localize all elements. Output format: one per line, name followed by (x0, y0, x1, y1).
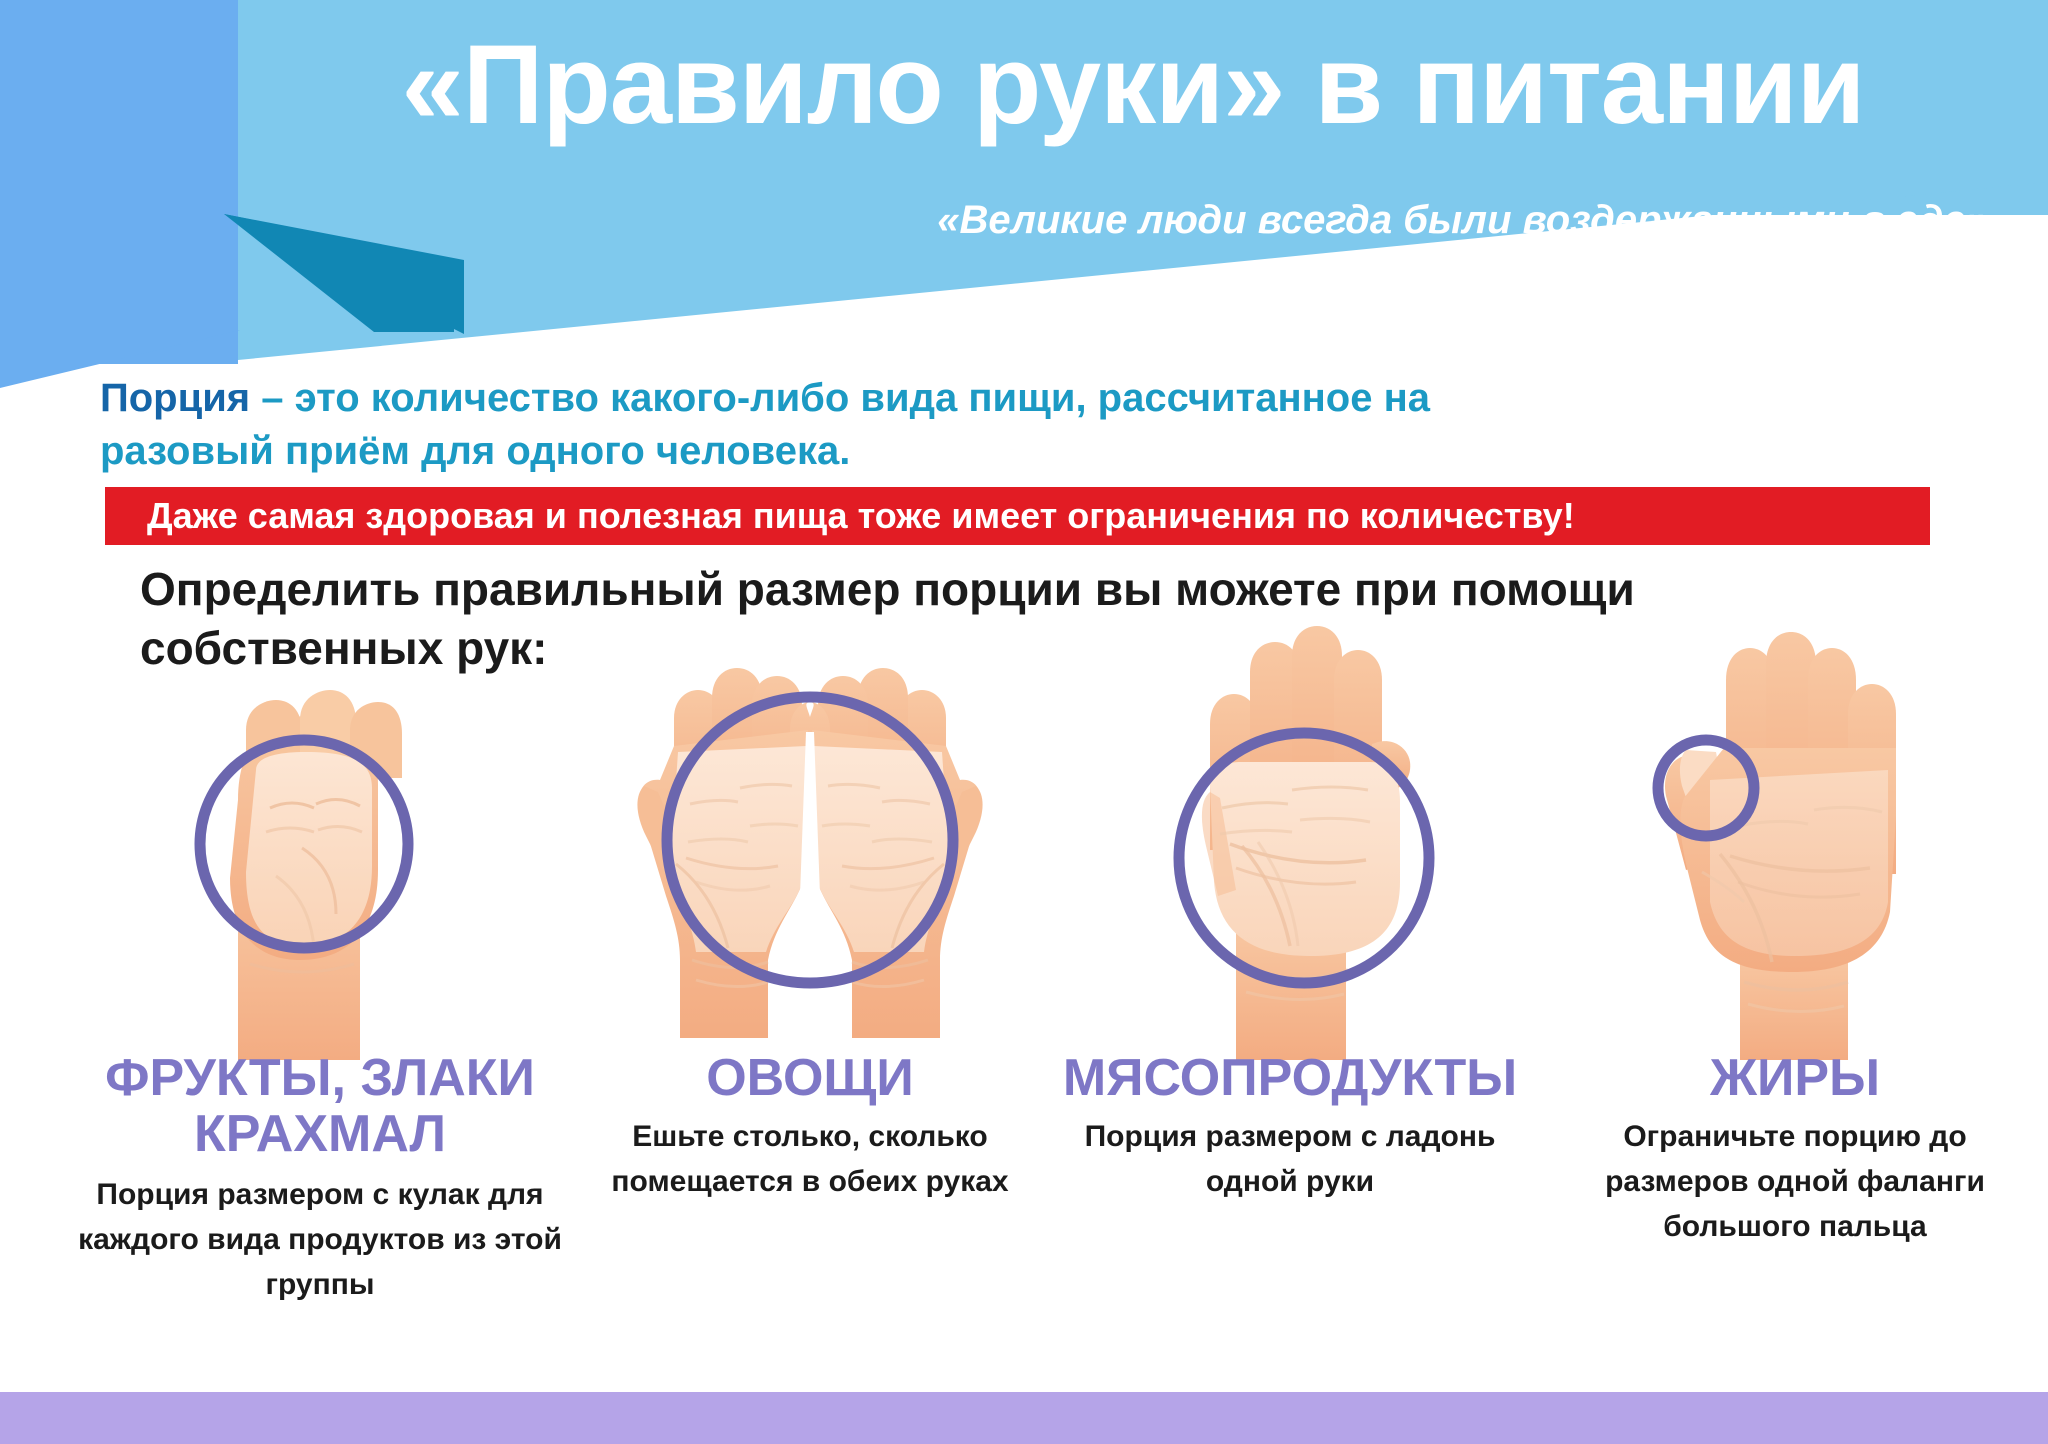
two-cupped-hands-icon (600, 620, 1020, 1060)
column-vegetables: ОВОЩИ Ешьте столько, сколько помещается … (600, 620, 1020, 1060)
category-label-4: ЖИРЫ (1560, 1050, 2030, 1106)
page-title: «Правило руки» в питании (238, 26, 2028, 145)
header-quote: «Великие люди всегда были воздержанными … (937, 198, 1988, 243)
warning-banner-text: Даже самая здоровая и полезная пища тоже… (105, 487, 1930, 545)
category-label-3: МЯСОПРОДУКТЫ (1060, 1050, 1520, 1106)
hand-columns: ФРУКТЫ, ЗЛАКИ КРАХМАЛ Порция размером с … (0, 620, 2048, 1400)
column-meat-products: МЯСОПРОДУКТЫ Порция размером с ладонь од… (1060, 620, 1520, 1060)
open-palm-hand-icon (1060, 620, 1520, 1060)
warning-banner: Даже самая здоровая и полезная пища тоже… (105, 487, 1930, 545)
category-caption-4: Ограничьте порцию до размеров одной фала… (1560, 1114, 2030, 1249)
header-left-panel (0, 0, 238, 364)
bottom-accent-bar (0, 1392, 2048, 1444)
column-fats: ЖИРЫ Ограничьте порцию до размеров одной… (1560, 620, 2030, 1060)
category-caption-3: Порция размером с ладонь одной руки (1060, 1114, 1520, 1204)
header-quote-author: Оноре Де Бальзак (1646, 258, 1988, 303)
category-label-2: ОВОЩИ (600, 1050, 1020, 1106)
column-fruits-grains-starch: ФРУКТЫ, ЗЛАКИ КРАХМАЛ Порция размером с … (60, 620, 580, 1060)
poster-root: «Правило руки» в питании «Великие люди в… (0, 0, 2048, 1444)
category-caption-2: Ешьте столько, сколько помещается в обеи… (600, 1114, 1020, 1204)
fist-hand-icon (60, 620, 580, 1060)
thumb-phalanx-hand-icon (1560, 620, 2030, 1060)
portion-definition: Порция – это количество какого-либо вида… (100, 372, 1550, 478)
definition-body: – это количество какого-либо вида пищи, … (100, 376, 1430, 473)
header: «Правило руки» в питании «Великие люди в… (0, 0, 2048, 380)
definition-term: Порция (100, 376, 250, 420)
category-caption-1: Порция размером с кулак для каждого вида… (60, 1172, 580, 1307)
category-label-1: ФРУКТЫ, ЗЛАКИ КРАХМАЛ (60, 1050, 580, 1162)
